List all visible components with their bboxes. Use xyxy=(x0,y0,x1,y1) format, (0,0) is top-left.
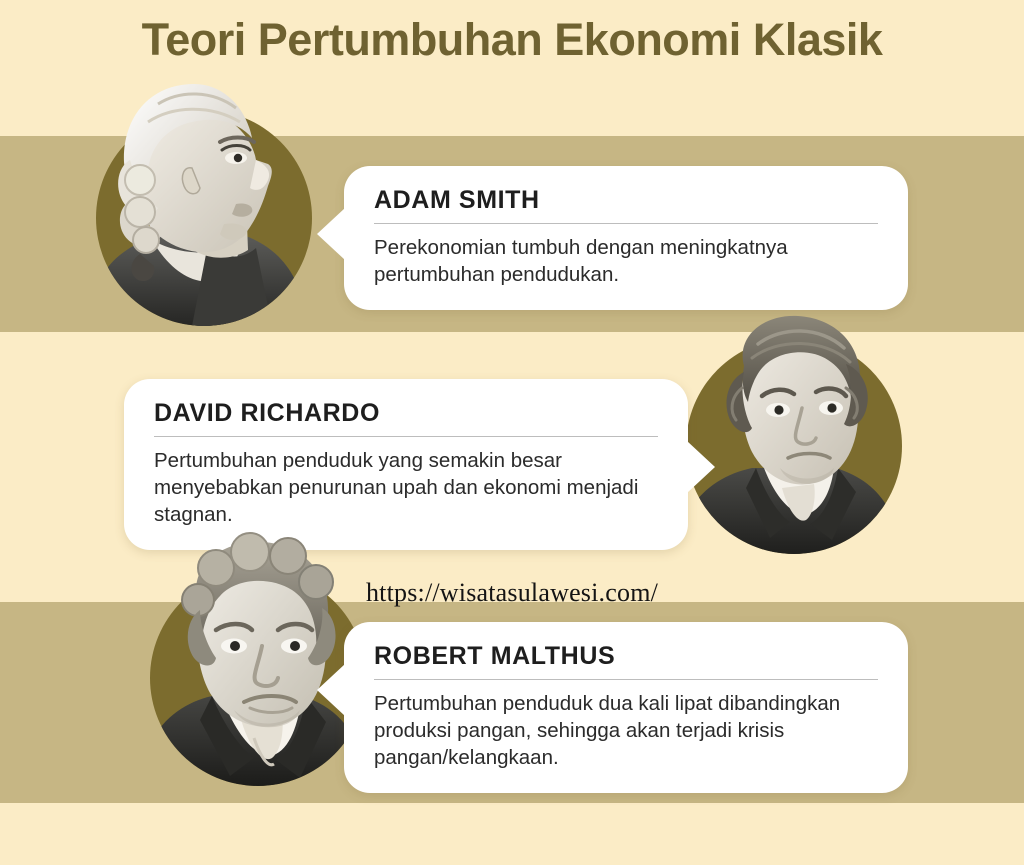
card-robert-malthus: ROBERT MALTHUS Pertumbuhan penduduk dua … xyxy=(344,622,908,793)
adam-smith-portrait xyxy=(96,110,312,326)
watermark-url: https://wisatasulawesi.com/ xyxy=(0,578,1024,608)
card-description: Pertumbuhan penduduk dua kali lipat diba… xyxy=(374,690,878,771)
card-title: ROBERT MALTHUS xyxy=(374,642,878,671)
card-david-richardo: DAVID RICHARDO Pertumbuhan penduduk yang… xyxy=(124,379,688,550)
divider xyxy=(154,436,658,437)
card-description: Pertumbuhan penduduk yang semakin besar … xyxy=(154,447,658,528)
divider xyxy=(374,679,878,680)
card-description: Perekonomian tumbuh dengan meningkatnya … xyxy=(374,234,878,288)
card-title: DAVID RICHARDO xyxy=(154,399,658,428)
david-richardo-portrait xyxy=(686,338,902,554)
divider xyxy=(374,223,878,224)
robert-malthus-portrait-image xyxy=(150,524,366,786)
adam-smith-portrait-image xyxy=(96,64,312,326)
infographic-poster: Teori Pertumbuhan Ekonomi Klasik xyxy=(0,0,1024,865)
card-tail-icon xyxy=(687,441,715,493)
card-adam-smith: ADAM SMITH Perekonomian tumbuh dengan me… xyxy=(344,166,908,310)
card-tail-icon xyxy=(317,664,345,716)
card-title: ADAM SMITH xyxy=(374,186,878,215)
card-tail-icon xyxy=(317,208,345,260)
page-title: Teori Pertumbuhan Ekonomi Klasik xyxy=(0,14,1024,66)
